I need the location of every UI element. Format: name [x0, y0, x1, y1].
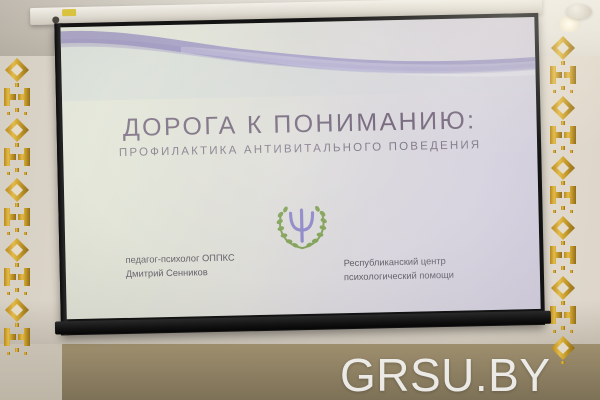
yellow-label-icon	[62, 9, 76, 16]
belarusian-ornament-icon	[548, 34, 578, 364]
psi-laurel-wreath-icon	[271, 199, 332, 254]
organization-line-2: психологический помощи	[344, 269, 454, 285]
presenter-name: Дмитрий Сенников	[126, 265, 235, 281]
ceiling-speaker-icon	[566, 4, 592, 19]
projector-screen: ДОРОГА К ПОНИМАНИЮ: ПРОФИЛАКТИКА АНТИВИТ…	[30, 0, 549, 344]
presenter-role: педагог-психолог ОППКС	[125, 252, 234, 268]
belarusian-ornament-icon	[2, 56, 32, 356]
slide-title: ДОРОГА К ПОНИМАНИЮ:	[62, 105, 537, 144]
watermark: GRSU.BY	[340, 348, 551, 400]
organization-credit: Республиканский центр психологический по…	[344, 255, 455, 285]
presentation-slide: ДОРОГА К ПОНИМАНИЮ: ПРОФИЛАКТИКА АНТИВИТ…	[60, 17, 540, 319]
wave-ribbon-decoration-icon	[60, 17, 536, 101]
photo-scene: ДОРОГА К ПОНИМАНИЮ: ПРОФИЛАКТИКА АНТИВИТ…	[0, 0, 600, 400]
presenter-credit: педагог-психолог ОППКС Дмитрий Сенников	[125, 252, 235, 282]
